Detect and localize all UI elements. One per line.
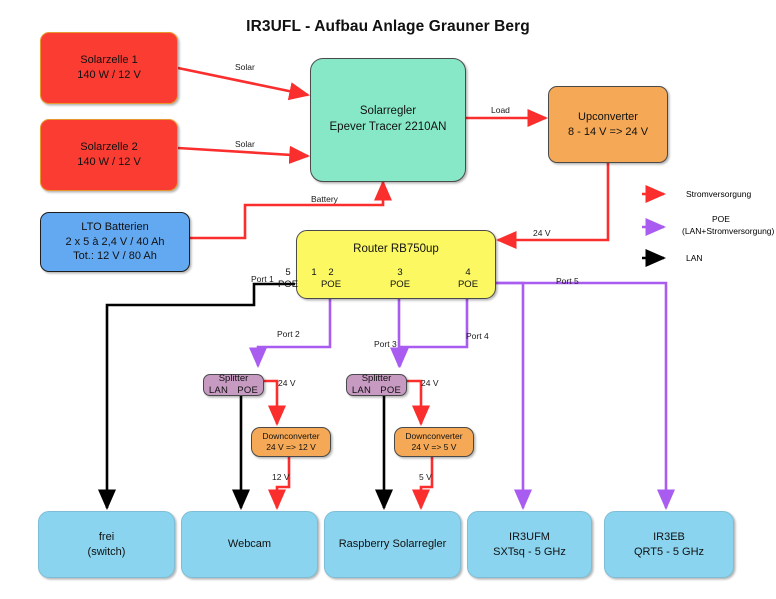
- router-port-4-number: 4: [453, 267, 483, 279]
- router-port-3-poe: POE: [385, 279, 415, 291]
- router-port-3-number: 3: [385, 267, 415, 279]
- edge-label-port-5: Port 5: [556, 276, 579, 286]
- node-dest-frei-switch[interactable]: frei (switch): [38, 511, 175, 578]
- router-port-3[interactable]: 3 POE: [385, 267, 415, 291]
- node-solarzelle-1[interactable]: Solarzelle 1 140 W / 12 V: [40, 32, 178, 104]
- router-port-2[interactable]: 2 POE: [316, 267, 346, 291]
- edge-label-solar-2: Solar: [235, 139, 255, 149]
- node-dest-ir3ufm[interactable]: IR3UFM SXTsq - 5 GHz: [467, 511, 592, 578]
- downconverter-2-line2: 24 V => 5 V: [412, 442, 457, 453]
- splitter-2-lan: LAN: [352, 385, 371, 397]
- edge-label-port-4: Port 4: [466, 331, 489, 341]
- node-splitter-1[interactable]: Splitter LANPOE: [203, 374, 264, 396]
- router-port-4[interactable]: 4 POE: [453, 267, 483, 291]
- node-dest-webcam[interactable]: Webcam: [181, 511, 318, 578]
- edge-label-splitter-1-24v: 24 V: [278, 378, 296, 388]
- dest5-line1: IR3EB: [653, 530, 685, 545]
- solarzelle-2-line1: Solarzelle 2: [80, 140, 137, 155]
- node-lto-batterien[interactable]: LTO Batterien 2 x 5 à 2,4 V / 40 Ah Tot.…: [40, 212, 190, 272]
- node-router[interactable]: Router RB750up 1 2 POE 3 POE 4 POE 5 POE: [296, 230, 496, 299]
- edge-label-battery: Battery: [311, 194, 338, 204]
- node-solarzelle-2[interactable]: Solarzelle 2 140 W / 12 V: [40, 119, 178, 191]
- diagram-canvas: IR3UFL - Aufbau Anlage Grauner Berg: [0, 0, 776, 599]
- dest2-line1: Webcam: [228, 537, 271, 552]
- edge-label-downconverter-1-out: 12 V: [272, 472, 290, 482]
- legend-item-poe-sub: (LAN+Stromversorgung): [682, 226, 774, 236]
- router-title: Router RB750up: [297, 242, 495, 258]
- solarzelle-1-line2: 140 W / 12 V: [77, 68, 141, 83]
- legend-item-poe: POE: [712, 214, 730, 224]
- node-solarregler[interactable]: Solarregler Epever Tracer 2210AN: [310, 58, 466, 182]
- edge-label-24v-router: 24 V: [533, 228, 551, 238]
- batterien-line2: 2 x 5 à 2,4 V / 40 Ah: [65, 235, 164, 250]
- solarregler-line1: Solarregler: [360, 104, 416, 120]
- node-downconverter-1[interactable]: Downconverter 24 V => 12 V: [251, 427, 331, 457]
- edge-label-port-3: Port 3: [374, 339, 397, 349]
- upconverter-line2: 8 - 14 V => 24 V: [568, 125, 648, 140]
- router-port-4-poe: POE: [453, 279, 483, 291]
- edge-label-downconverter-2-out: 5 V: [419, 472, 432, 482]
- solarzelle-1-line1: Solarzelle 1: [80, 53, 137, 68]
- edge-label-port-2: Port 2: [277, 329, 300, 339]
- router-port-5[interactable]: 5 POE: [273, 267, 303, 291]
- downconverter-1-line2: 24 V => 12 V: [266, 442, 316, 453]
- dest4-line2: SXTsq - 5 GHz: [493, 545, 566, 560]
- edge-label-solar-1: Solar: [235, 62, 255, 72]
- batterien-line1: LTO Batterien: [81, 220, 148, 235]
- edge-label-port-1: Port 1: [251, 274, 274, 284]
- splitter-2-title: Splitter: [352, 373, 401, 385]
- node-upconverter[interactable]: Upconverter 8 - 14 V => 24 V: [548, 86, 668, 163]
- splitter-1-poe: POE: [237, 385, 258, 397]
- poe-wires: [258, 283, 666, 508]
- downconverter-2-line1: Downconverter: [405, 431, 462, 442]
- solarzelle-2-line2: 140 W / 12 V: [77, 155, 141, 170]
- legend-item-power: Stromversorgung: [686, 189, 751, 199]
- batterien-line3: Tot.: 12 V / 80 Ah: [73, 249, 157, 264]
- legend-item-lan: LAN: [686, 253, 703, 263]
- node-downconverter-2[interactable]: Downconverter 24 V => 5 V: [394, 427, 474, 457]
- dest1-line2: (switch): [88, 545, 126, 560]
- router-port-2-number: 2: [316, 267, 346, 279]
- legend: Stromversorgung POE (LAN+Stromversorgung…: [640, 183, 776, 274]
- router-port-5-number: 5: [273, 267, 303, 279]
- dest3-line1: Raspberry Solarregler: [339, 537, 447, 552]
- router-port-5-poe: POE: [273, 279, 303, 291]
- dest4-line1: IR3UFM: [509, 530, 550, 545]
- edge-label-load: Load: [491, 105, 510, 115]
- dest5-line2: QRT5 - 5 GHz: [634, 545, 704, 560]
- splitter-2-poe: POE: [380, 385, 401, 397]
- solarregler-line2: Epever Tracer 2210AN: [330, 120, 447, 136]
- splitter-1-title: Splitter: [209, 373, 258, 385]
- upconverter-line1: Upconverter: [578, 110, 638, 125]
- downconverter-1-line1: Downconverter: [262, 431, 319, 442]
- edge-label-splitter-2-24v: 24 V: [421, 378, 439, 388]
- node-dest-raspberry[interactable]: Raspberry Solarregler: [324, 511, 461, 578]
- dest1-line1: frei: [99, 530, 114, 545]
- node-splitter-2[interactable]: Splitter LANPOE: [346, 374, 407, 396]
- splitter-1-lan: LAN: [209, 385, 228, 397]
- router-port-2-poe: POE: [316, 279, 346, 291]
- node-dest-ir3eb[interactable]: IR3EB QRT5 - 5 GHz: [604, 511, 734, 578]
